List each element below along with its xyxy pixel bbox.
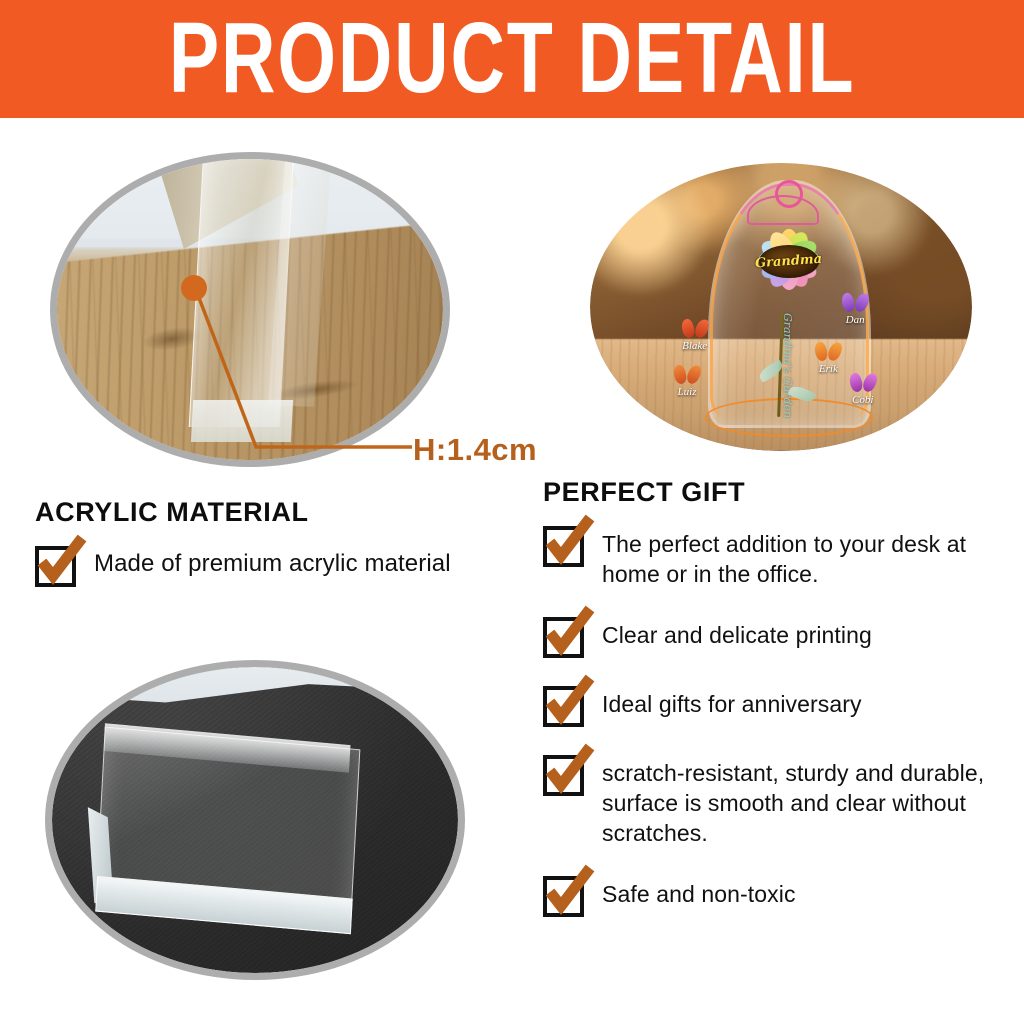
butterfly-wing-left bbox=[671, 363, 688, 385]
checklist-item: The perfect addition to your desk at hom… bbox=[543, 524, 998, 589]
butterfly-name: Cobi bbox=[852, 394, 873, 406]
stem-script-text: Grandma's Garden bbox=[781, 313, 794, 418]
checklist-item-label: Clear and delicate printing bbox=[602, 615, 872, 650]
checklist-item: Made of premium acrylic material bbox=[35, 544, 515, 587]
butterfly: Dan bbox=[842, 293, 868, 313]
checkbox-checked-icon bbox=[543, 686, 584, 727]
thickness-callout-label: H:1.4cm bbox=[413, 432, 537, 468]
butterfly: Blake bbox=[682, 319, 708, 339]
checklist-item: scratch-resistant, sturdy and durable, s… bbox=[543, 753, 998, 848]
butterfly-wing-left bbox=[679, 317, 696, 339]
photo-product-image: Grandma Grandma's Garden Blake Dan Luiz … bbox=[590, 163, 972, 451]
section-perfect-gift: PERFECT GIFT The perfect addition to you… bbox=[543, 477, 998, 943]
flower-center: Grandma bbox=[759, 245, 819, 278]
checklist-item-label: Ideal gifts for anniversary bbox=[602, 684, 862, 719]
checklist-item-label: Safe and non-toxic bbox=[602, 874, 796, 909]
checklist-item-label: Made of premium acrylic material bbox=[94, 544, 451, 579]
butterfly-name: Erik bbox=[819, 363, 838, 375]
butterfly-wing-left bbox=[813, 340, 830, 362]
photo-acrylic-edge-image bbox=[57, 159, 443, 460]
photo-acrylic-edge bbox=[50, 152, 450, 467]
photo-square-block bbox=[45, 660, 465, 980]
section-title-acrylic-material: ACRYLIC MATERIAL bbox=[35, 497, 515, 528]
checkbox-checked-icon bbox=[543, 755, 584, 796]
photo-product-plaque: Grandma Grandma's Garden Blake Dan Luiz … bbox=[590, 163, 972, 451]
page-title: PRODUCT DETAIL bbox=[169, 9, 856, 109]
butterfly-name: Blake bbox=[682, 340, 707, 352]
header-banner: PRODUCT DETAIL bbox=[0, 0, 1024, 118]
butterfly: Luiz bbox=[674, 365, 700, 385]
butterfly: Erik bbox=[815, 342, 841, 362]
butterfly: Cobi bbox=[850, 373, 876, 393]
checklist-item-label: The perfect addition to your desk at hom… bbox=[602, 524, 998, 589]
checkbox-checked-icon bbox=[543, 526, 584, 567]
butterfly-name: Luiz bbox=[678, 386, 697, 398]
flower-center-text: Grandma bbox=[755, 251, 823, 271]
photo-square-block-image bbox=[52, 667, 458, 973]
butterfly-wing-left bbox=[847, 372, 864, 394]
checklist-item: Clear and delicate printing bbox=[543, 615, 998, 658]
checklist-item-label: scratch-resistant, sturdy and durable, s… bbox=[602, 753, 998, 848]
photo-soft-focus bbox=[57, 159, 443, 460]
checklist-item: Safe and non-toxic bbox=[543, 874, 998, 917]
butterfly-wing-left bbox=[839, 291, 856, 313]
checkbox-checked-icon bbox=[35, 546, 76, 587]
rainbow-sunflower: Grandma bbox=[724, 218, 854, 316]
checkbox-checked-icon bbox=[543, 617, 584, 658]
checklist-item: Ideal gifts for anniversary bbox=[543, 684, 998, 727]
checkbox-checked-icon bbox=[543, 876, 584, 917]
section-title-perfect-gift: PERFECT GIFT bbox=[543, 477, 998, 508]
butterfly-name: Dan bbox=[846, 314, 865, 326]
section-acrylic-material: ACRYLIC MATERIAL Made of premium acrylic… bbox=[35, 497, 515, 613]
